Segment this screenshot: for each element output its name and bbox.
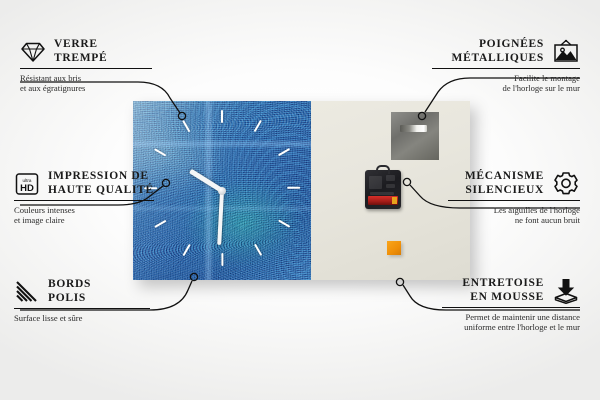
gear-icon	[552, 171, 580, 197]
callout-subtitle-line2: et aux égratignures	[20, 83, 152, 94]
callout-subtitle-line2: et image claire	[14, 215, 154, 226]
connector-endpoint-mecanisme	[403, 178, 410, 185]
polished-edge-icon	[14, 280, 40, 304]
callout-divider	[14, 308, 150, 309]
callout-divider	[14, 200, 154, 201]
connector-endpoint-poignees	[418, 112, 425, 119]
callout-subtitle-line1: Permet de maintenir une distance	[442, 312, 580, 323]
callout-divider	[442, 307, 580, 308]
infographic-canvas: VERRE TREMPÉ Résistant aux bris et aux é…	[0, 0, 600, 400]
callout-header: ultra HD IMPRESSION DE HAUTE QUALITÉ	[14, 170, 154, 197]
callout-title: VERRE TREMPÉ	[54, 38, 107, 65]
callout-poignees-metalliques: POIGNÉES MÉTALLIQUES Facilite le montage…	[432, 38, 580, 94]
callout-subtitle-line1: Facilite le montage	[432, 73, 580, 84]
callout-header: VERRE TREMPÉ	[20, 38, 152, 65]
callout-header: MÉCANISME SILENCIEUX	[448, 170, 580, 197]
callout-divider	[448, 200, 580, 201]
callout-impression-haute-qualite: ultra HD IMPRESSION DE HAUTE QUALITÉ Cou…	[14, 170, 154, 226]
connector-endpoint-bords-polis	[190, 273, 197, 280]
foam-spacer-icon	[552, 278, 580, 304]
connector-endpoint-impression	[162, 179, 169, 186]
callout-subtitle-line2: de l'horloge sur le mur	[432, 83, 580, 94]
picture-frame-hanger-icon	[552, 39, 580, 65]
callout-title: IMPRESSION DE HAUTE QUALITÉ	[48, 170, 154, 197]
ultra-hd-icon: ultra HD	[14, 172, 40, 196]
callout-title: ENTRETOISE EN MOUSSE	[462, 277, 544, 304]
callout-header: BORDS POLIS	[14, 278, 150, 305]
svg-text:HD: HD	[20, 183, 34, 194]
callout-subtitle-line1: Résistant aux bris	[20, 73, 152, 84]
callout-header: POIGNÉES MÉTALLIQUES	[432, 38, 580, 65]
callout-subtitle-line2: ne font aucun bruit	[448, 215, 580, 226]
callout-mecanisme-silencieux: MÉCANISME SILENCIEUX Les aiguilles de l'…	[448, 170, 580, 226]
callout-title: MÉCANISME SILENCIEUX	[465, 170, 544, 197]
callout-header: ENTRETOISE EN MOUSSE	[442, 277, 580, 304]
callout-divider	[20, 68, 152, 69]
callout-subtitle-line2: uniforme entre l'horloge et le mur	[442, 322, 580, 333]
callout-divider	[432, 68, 580, 69]
connector-endpoint-entretoise	[396, 278, 403, 285]
callout-subtitle-line1: Les aiguilles de l'horloge	[448, 205, 580, 216]
connector-endpoint-verre-trempe	[178, 112, 185, 119]
callout-verre-trempe: VERRE TREMPÉ Résistant aux bris et aux é…	[20, 38, 152, 94]
callout-entretoise-en-mousse: ENTRETOISE EN MOUSSE Permet de maintenir…	[442, 277, 580, 333]
callout-title: BORDS POLIS	[48, 278, 91, 305]
callout-bords-polis: BORDS POLIS Surface lisse et sûre	[14, 278, 150, 323]
callout-subtitle-line1: Surface lisse et sûre	[14, 313, 150, 324]
callout-subtitle-line1: Couleurs intenses	[14, 205, 154, 216]
diamond-icon	[20, 41, 46, 63]
callout-title: POIGNÉES MÉTALLIQUES	[452, 38, 544, 65]
